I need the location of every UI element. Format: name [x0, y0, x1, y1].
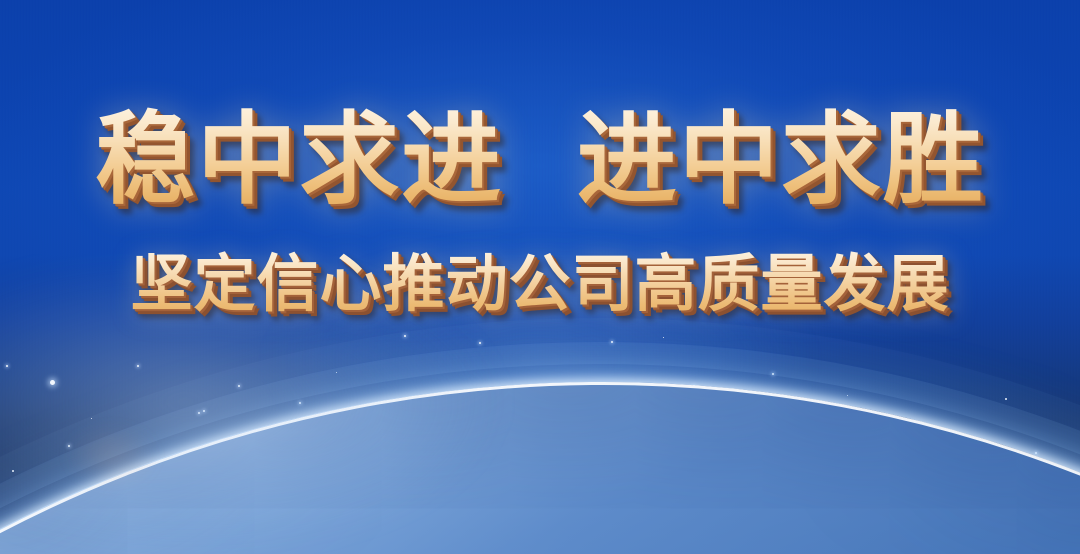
- page-subtitle: 坚定信心推动公司高质量发展: [0, 248, 1080, 320]
- page-title: 稳中求进 进中求胜: [0, 104, 1080, 216]
- poster-banner: 稳中求进 进中求胜 坚定信心推动公司高质量发展: [0, 0, 1080, 554]
- headline-block: 稳中求进 进中求胜 坚定信心推动公司高质量发展: [0, 104, 1080, 320]
